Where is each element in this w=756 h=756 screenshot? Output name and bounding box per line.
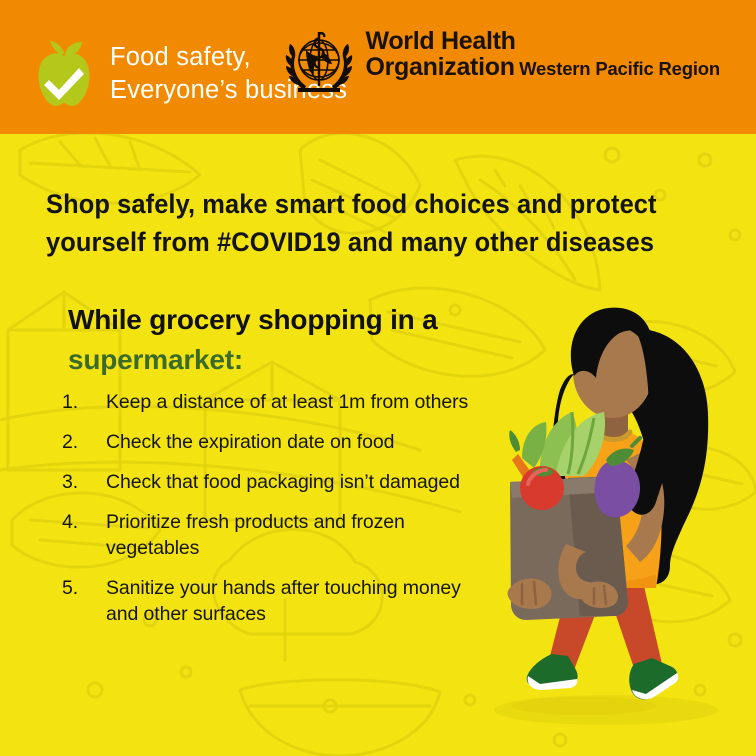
list-item: 4. Prioritize fresh products and frozen … (62, 510, 474, 562)
list-item-text: Sanitize your hands after touching money… (106, 576, 474, 628)
list-item-number: 5. (62, 576, 106, 602)
subheading-green-part: supermarket: (68, 340, 488, 380)
food-safety-poster: Food safety, Everyone’s business (0, 0, 756, 756)
list-item: 3. Check that food packaging isn’t damag… (62, 470, 474, 496)
list-item-text: Check that food packaging isn’t damaged (106, 470, 474, 496)
list-item: 1. Keep a distance of at least 1m from o… (62, 390, 474, 416)
tips-list: 1. Keep a distance of at least 1m from o… (62, 390, 474, 641)
list-item-number: 4. (62, 510, 106, 536)
poster-content: Shop safely, make smart food choices and… (0, 0, 756, 756)
subheading-black-part: While grocery shopping in a (68, 304, 438, 335)
list-item-number: 1. (62, 390, 106, 416)
list-item: 5. Sanitize your hands after touching mo… (62, 576, 474, 628)
list-item-text: Check the expiration date on food (106, 430, 474, 456)
list-item-number: 2. (62, 430, 106, 456)
list-item-number: 3. (62, 470, 106, 496)
list-item-text: Keep a distance of at least 1m from othe… (106, 390, 474, 416)
subheading: While grocery shopping in a supermarket: (68, 300, 488, 380)
headline-text: Shop safely, make smart food choices and… (46, 186, 660, 261)
list-item: 2. Check the expiration date on food (62, 430, 474, 456)
list-item-text: Prioritize fresh products and frozen veg… (106, 510, 474, 562)
